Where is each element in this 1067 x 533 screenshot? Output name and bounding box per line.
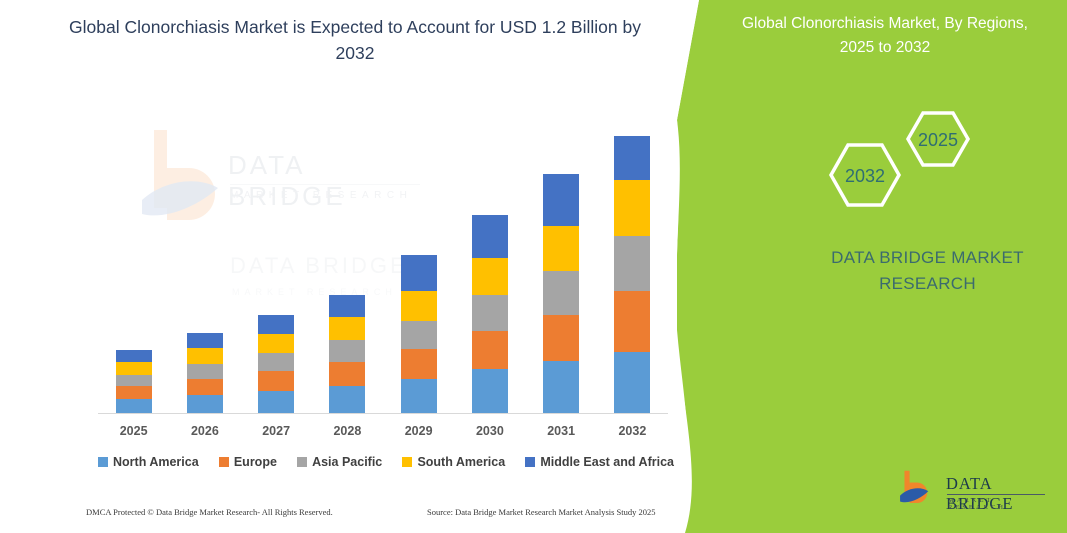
- x-axis-label-2029: 2029: [383, 424, 455, 438]
- chart-legend: North AmericaEuropeAsia PacificSouth Ame…: [98, 455, 674, 469]
- bar-group: [543, 174, 579, 413]
- bar-segment: [543, 174, 579, 226]
- bar-segment: [329, 295, 365, 317]
- bar-segment: [401, 321, 437, 349]
- bar-segment: [472, 258, 508, 295]
- legend-swatch-icon: [525, 457, 535, 467]
- legend-swatch-icon: [219, 457, 229, 467]
- brand-name: DATA BRIDGE MARKET RESEARCH: [790, 245, 1065, 296]
- legend-swatch-icon: [297, 457, 307, 467]
- bar-segment: [401, 291, 437, 321]
- hexagon-right-label: 2025: [918, 130, 958, 150]
- x-axis-label-2030: 2030: [454, 424, 526, 438]
- legend-swatch-icon: [98, 457, 108, 467]
- bar-segment: [258, 315, 294, 334]
- x-axis-label-2031: 2031: [525, 424, 597, 438]
- legend-label: North America: [113, 455, 199, 469]
- panel-title: Global Clonorchiasis Market, By Regions,…: [735, 12, 1035, 60]
- bar-segment: [329, 362, 365, 386]
- bar-segment: [543, 315, 579, 361]
- x-axis-label-2032: 2032: [596, 424, 668, 438]
- bar-segment: [329, 317, 365, 340]
- bar-segment: [401, 379, 437, 413]
- x-axis-label-2027: 2027: [240, 424, 312, 438]
- bar-segment: [614, 136, 650, 180]
- hexagon-svg: 2025 2032: [820, 95, 1000, 215]
- legend-item-europe[interactable]: Europe: [219, 455, 277, 469]
- bar-segment: [329, 386, 365, 413]
- bar-segment: [187, 348, 223, 364]
- bar-segment: [614, 291, 650, 352]
- company-logo: DATA BRIDGE MARKET RESEARCH: [888, 468, 1048, 516]
- logo-b-icon: [888, 470, 940, 514]
- bar-segment: [116, 362, 152, 375]
- bar-segment: [472, 331, 508, 369]
- x-axis-tick-labels: 20252026202720282029203020312032: [98, 424, 668, 444]
- logo-rule: [947, 494, 1045, 495]
- bar-group: [116, 350, 152, 413]
- bar-segment: [472, 295, 508, 331]
- bar-segment: [187, 379, 223, 395]
- bar-segment: [401, 255, 437, 291]
- legend-label: South America: [417, 455, 505, 469]
- legend-label: Europe: [234, 455, 277, 469]
- x-axis-label-2025: 2025: [98, 424, 170, 438]
- legend-item-north-america[interactable]: North America: [98, 455, 199, 469]
- bar-segment: [543, 226, 579, 271]
- chart-panel: Global Clonorchiasis Market is Expected …: [0, 0, 712, 533]
- bar-segment: [258, 391, 294, 413]
- bar-segment: [614, 352, 650, 413]
- footer-source: Source: Data Bridge Market Research Mark…: [427, 507, 656, 517]
- x-axis-line: [98, 413, 668, 414]
- footer-copyright: DMCA Protected © Data Bridge Market Rese…: [86, 507, 333, 517]
- bar-segment: [472, 369, 508, 413]
- bar-chart-plot-area: [98, 100, 668, 414]
- legend-swatch-icon: [402, 457, 412, 467]
- bar-segment: [329, 340, 365, 362]
- legend-item-asia-pacific[interactable]: Asia Pacific: [297, 455, 382, 469]
- bar-segment: [187, 333, 223, 348]
- bar-group: [187, 333, 223, 413]
- page-title: Global Clonorchiasis Market is Expected …: [60, 14, 650, 67]
- logo-subtitle: MARKET RESEARCH: [948, 497, 1048, 511]
- bar-segment: [258, 371, 294, 391]
- bar-segment: [187, 364, 223, 379]
- x-axis-label-2028: 2028: [311, 424, 383, 438]
- bar-group: [258, 315, 294, 413]
- bar-segment: [614, 180, 650, 236]
- legend-label: Middle East and Africa: [540, 455, 674, 469]
- bar-group: [401, 255, 437, 413]
- legend-label: Asia Pacific: [312, 455, 382, 469]
- bar-segment: [258, 334, 294, 353]
- bar-segment: [543, 271, 579, 315]
- bar-group: [472, 215, 508, 413]
- bar-group: [614, 136, 650, 413]
- bar-segment: [543, 361, 579, 413]
- hexagon-badges: 2025 2032: [820, 95, 1000, 215]
- bar-segment: [401, 349, 437, 379]
- bar-segment: [187, 395, 223, 413]
- legend-item-middle-east-and-africa[interactable]: Middle East and Africa: [525, 455, 674, 469]
- bar-segment: [116, 399, 152, 413]
- x-axis-label-2026: 2026: [169, 424, 241, 438]
- bar-segment: [614, 236, 650, 291]
- bar-segment: [116, 375, 152, 386]
- bar-segment: [116, 386, 152, 399]
- bar-segment: [472, 215, 508, 258]
- legend-item-south-america[interactable]: South America: [402, 455, 505, 469]
- bar-segment: [258, 353, 294, 371]
- bar-segment: [116, 350, 152, 362]
- bar-group: [329, 295, 365, 413]
- hexagon-left-label: 2032: [845, 166, 885, 186]
